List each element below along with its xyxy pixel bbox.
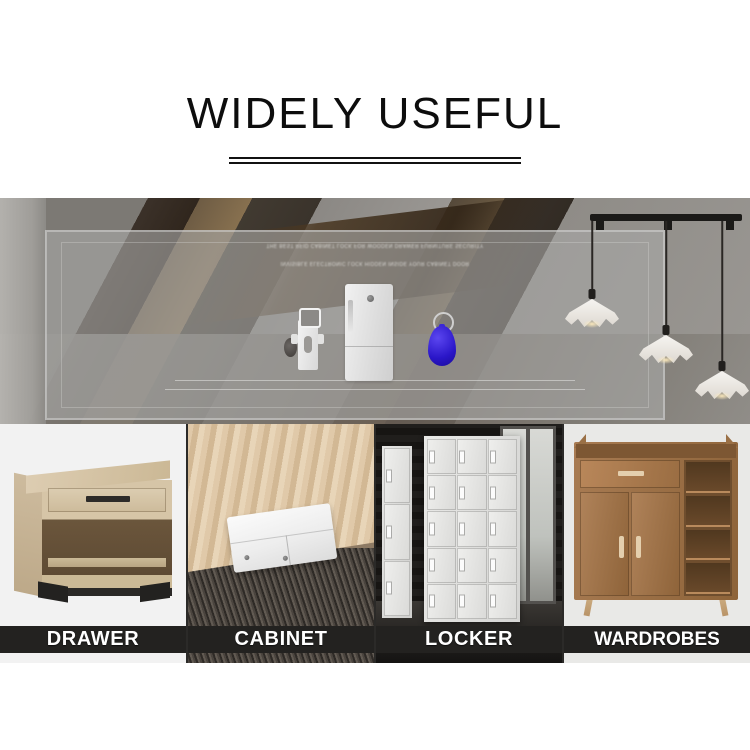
nightstand-shelf	[48, 558, 166, 567]
module-sensor-dot	[367, 295, 374, 302]
lamp-shade	[565, 299, 619, 331]
rfid-lock-module-icon	[345, 284, 393, 381]
locker-door	[488, 584, 517, 619]
lamp-glow	[657, 356, 675, 364]
wardrobe-door-right	[631, 492, 680, 596]
locker-door	[427, 439, 456, 474]
locker-door	[427, 548, 456, 583]
lamp-cord	[591, 221, 593, 291]
gallery-item-drawer[interactable]: DRAWER	[0, 424, 188, 663]
nightstand-illustration	[14, 462, 174, 602]
lock-module-split	[286, 535, 291, 565]
locker-door	[457, 439, 486, 474]
header-block: WIDELY USEFUL	[0, 88, 750, 164]
page-title: WIDELY USEFUL	[0, 88, 750, 140]
locker-bank	[424, 436, 520, 622]
window-mullion	[526, 426, 530, 604]
wardrobe-shelf	[686, 530, 730, 561]
locker-door	[457, 475, 486, 510]
locker-door	[384, 561, 410, 616]
lock-mount-ear-left	[291, 334, 298, 344]
lamp-shade	[639, 335, 693, 367]
lock-hook	[299, 308, 321, 328]
gallery-label-cabinet: CABINET	[188, 626, 374, 653]
gallery-label-wardrobes: WARDROBES	[564, 626, 750, 653]
locker-door	[488, 548, 517, 583]
nightstand-drawer-handle	[86, 496, 130, 502]
locker-door	[427, 511, 456, 546]
rfid-key-fob-icon	[425, 312, 459, 374]
lock-slot	[304, 336, 312, 353]
hero-product-group	[285, 282, 475, 392]
wardrobe-drawer-pull	[618, 471, 644, 476]
locker-door	[457, 511, 486, 546]
gallery-item-cabinet[interactable]: CABINET	[188, 424, 376, 663]
locker-door	[488, 511, 517, 546]
application-gallery: DRAWER CABINET	[0, 424, 750, 663]
lamp-socket	[663, 325, 670, 335]
lamp-socket	[719, 361, 726, 371]
wardrobe-door-handle-left	[619, 536, 624, 558]
pendant-lamp-group	[570, 204, 746, 419]
gallery-item-locker[interactable]: LOCKER	[376, 424, 564, 663]
module-seam	[345, 346, 393, 347]
lamp-shade	[695, 371, 749, 403]
lock-module-seam	[230, 529, 333, 544]
nightstand-foot-right	[140, 582, 170, 602]
wardrobe-illustration	[574, 442, 738, 614]
locker-door	[457, 584, 486, 619]
lamp-glow	[583, 320, 601, 328]
wardrobe-back-panel	[576, 444, 736, 458]
lamp-cord	[721, 221, 723, 363]
gallery-label-locker: LOCKER	[376, 626, 562, 653]
lamp-bar-cap-right	[726, 221, 734, 230]
module-stripe	[348, 300, 353, 332]
locker-side-column	[382, 446, 412, 618]
lamp-bar-cap-left	[596, 221, 604, 230]
wardrobe-drawer	[580, 460, 680, 488]
lamp-cord	[665, 221, 667, 327]
locker-door	[488, 475, 517, 510]
fob-body	[428, 326, 456, 366]
lock-mount-ear-right	[317, 334, 324, 344]
locker-door	[384, 504, 410, 559]
locker-door	[384, 448, 410, 503]
gallery-item-wardrobes[interactable]: WARDROBES	[564, 424, 750, 663]
lock-module-screw-2	[283, 555, 289, 561]
gallery-label-drawer: DRAWER	[0, 626, 186, 653]
locker-door	[488, 439, 517, 474]
locker-door	[427, 584, 456, 619]
lock-module-screw-1	[244, 555, 250, 561]
locker-door	[427, 475, 456, 510]
wardrobe-shelf	[686, 462, 730, 493]
cabinet-cam-lock-icon	[293, 308, 323, 370]
wardrobe-shelf	[686, 563, 730, 594]
hero-banner: THE BEST RFID CABINET LOCK FOR WOODEN DR…	[0, 198, 750, 424]
lamp-socket	[589, 289, 596, 299]
lamp-glow	[713, 392, 731, 400]
locker-door	[457, 548, 486, 583]
wardrobe-open-shelves	[684, 460, 732, 596]
lamp-ceiling-bar	[590, 214, 742, 221]
wardrobe-door-handle-right	[636, 536, 641, 558]
wardrobe-shelf	[686, 496, 730, 527]
wardrobe-door-left	[580, 492, 629, 596]
title-divider	[229, 157, 521, 164]
